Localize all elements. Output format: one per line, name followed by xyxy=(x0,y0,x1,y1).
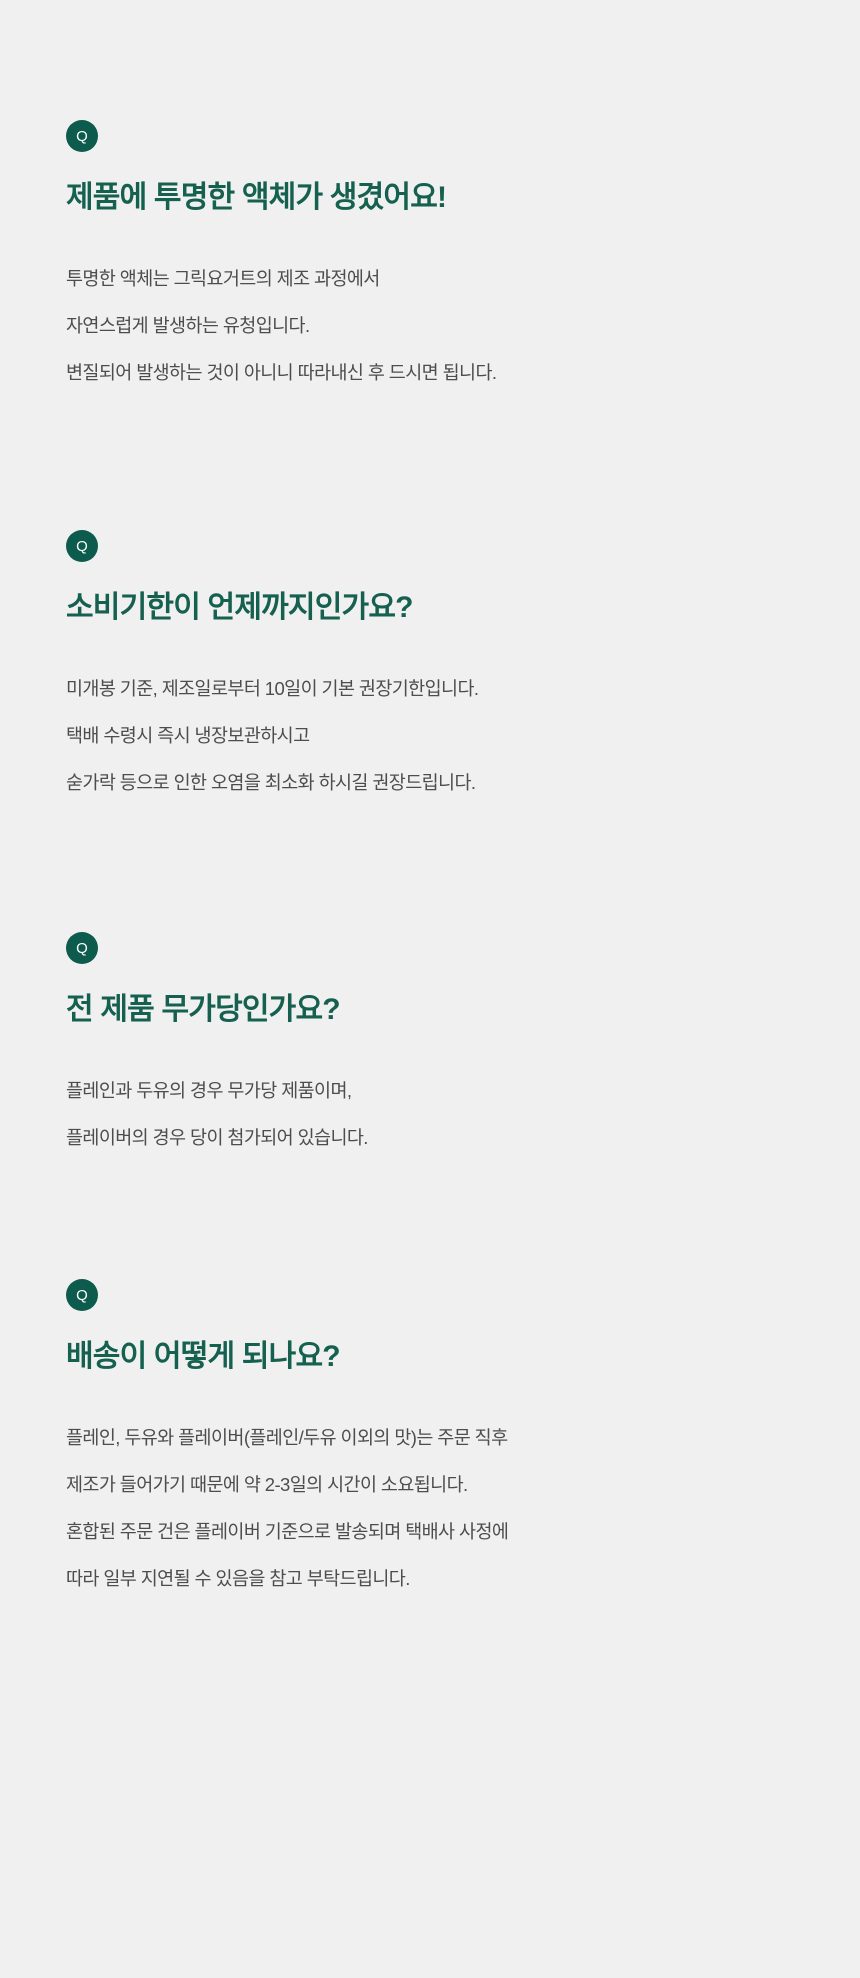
faq-item: Q 소비기한이 언제까지인가요? 미개봉 기준, 제조일로부터 10일이 기본 … xyxy=(66,530,796,806)
section-spacer xyxy=(66,1221,796,1279)
section-spacer xyxy=(66,456,796,530)
question-badge-icon: Q xyxy=(66,1279,98,1311)
faq-list: Q 제품에 투명한 액체가 생겼어요! 투명한 액체는 그릭요거트의 제조 과정… xyxy=(66,120,796,1602)
faq-answer: 플레인, 두유와 플레이버(플레인/두유 이외의 맛)는 주문 직후 제조가 들… xyxy=(66,1414,796,1602)
faq-answer-line: 숟가락 등으로 인한 오염을 최소화 하시길 권장드립니다. xyxy=(66,759,796,806)
faq-answer: 투명한 액체는 그릭요거트의 제조 과정에서 자연스럽게 발생하는 유청입니다.… xyxy=(66,255,796,396)
question-badge-icon: Q xyxy=(66,932,98,964)
faq-answer-line: 미개봉 기준, 제조일로부터 10일이 기본 권장기한입니다. xyxy=(66,665,796,712)
faq-answer-line: 변질되어 발생하는 것이 아니니 따라내신 후 드시면 됩니다. xyxy=(66,349,796,396)
question-badge-icon: Q xyxy=(66,120,98,152)
faq-answer: 미개봉 기준, 제조일로부터 10일이 기본 권장기한입니다. 택배 수령시 즉… xyxy=(66,665,796,806)
section-spacer xyxy=(66,866,796,932)
faq-question-title: 소비기한이 언제까지인가요? xyxy=(66,588,796,627)
faq-answer-line: 따라 일부 지연될 수 있음을 참고 부탁드립니다. xyxy=(66,1555,796,1602)
faq-answer-line: 혼합된 주문 건은 플레이버 기준으로 발송되며 택배사 사정에 xyxy=(66,1508,796,1555)
faq-answer-line: 택배 수령시 즉시 냉장보관하시고 xyxy=(66,712,796,759)
faq-page: Q 제품에 투명한 액체가 생겼어요! 투명한 액체는 그릭요거트의 제조 과정… xyxy=(0,0,860,1978)
faq-answer-line: 플레이버의 경우 당이 첨가되어 있습니다. xyxy=(66,1114,796,1161)
faq-answer-line: 투명한 액체는 그릭요거트의 제조 과정에서 xyxy=(66,255,796,302)
faq-answer-line: 제조가 들어가기 때문에 약 2-3일의 시간이 소요됩니다. xyxy=(66,1461,796,1508)
faq-question-title: 전 제품 무가당인가요? xyxy=(66,990,796,1029)
faq-answer-line: 자연스럽게 발생하는 유청입니다. xyxy=(66,302,796,349)
faq-answer-line: 플레인과 두유의 경우 무가당 제품이며, xyxy=(66,1067,796,1114)
faq-item: Q 전 제품 무가당인가요? 플레인과 두유의 경우 무가당 제품이며, 플레이… xyxy=(66,932,796,1161)
faq-question-title: 배송이 어떻게 되나요? xyxy=(66,1337,796,1376)
question-badge-icon: Q xyxy=(66,530,98,562)
faq-question-title: 제품에 투명한 액체가 생겼어요! xyxy=(66,178,796,217)
faq-item: Q 제품에 투명한 액체가 생겼어요! 투명한 액체는 그릭요거트의 제조 과정… xyxy=(66,120,796,396)
faq-answer: 플레인과 두유의 경우 무가당 제품이며, 플레이버의 경우 당이 첨가되어 있… xyxy=(66,1067,796,1161)
faq-item: Q 배송이 어떻게 되나요? 플레인, 두유와 플레이버(플레인/두유 이외의 … xyxy=(66,1279,796,1602)
faq-answer-line: 플레인, 두유와 플레이버(플레인/두유 이외의 맛)는 주문 직후 xyxy=(66,1414,796,1461)
